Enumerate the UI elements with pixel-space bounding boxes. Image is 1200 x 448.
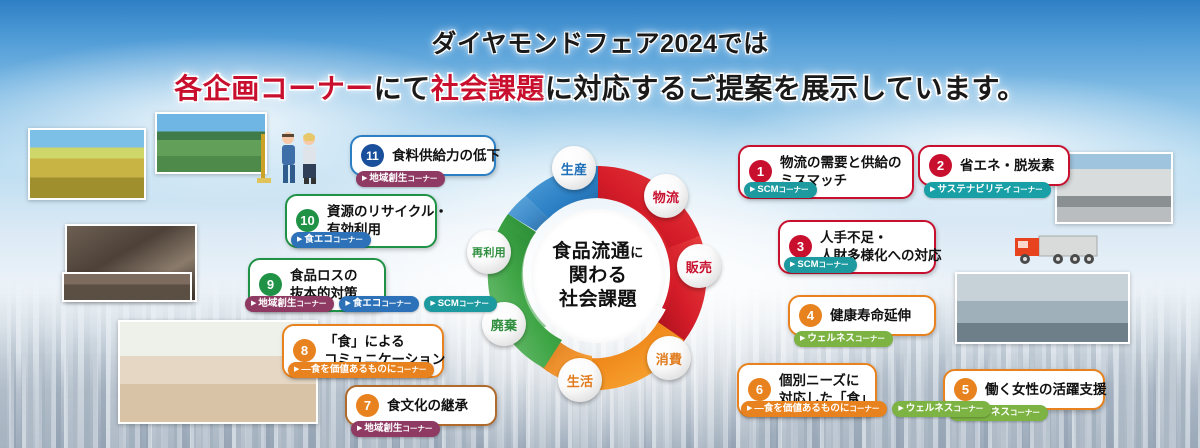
issue-tags-2: サステナビリティコーナー	[924, 182, 1051, 198]
tag-wellness-suffix: コーナー	[1010, 408, 1040, 417]
tag-regional-suffix: コーナー	[402, 424, 432, 433]
tag-sustainability[interactable]: サステナビリティコーナー	[924, 182, 1051, 198]
wheel-center-line-3: 社会課題	[559, 288, 637, 312]
headline-line-2: 各企画コーナーにて社会課題に対応するご提案を展示しています。	[0, 67, 1200, 107]
issue-number-4: 4	[799, 304, 822, 327]
tag-scm-suffix: コーナー	[779, 185, 809, 194]
tag-regional-label: 地域創生	[258, 298, 296, 309]
wheel-center-text-1: 食品流通	[552, 241, 630, 262]
issue-text-11: 食料供給力の低下	[392, 147, 500, 165]
tag-food-eco-suffix: コーナー	[381, 299, 411, 308]
headline-connector-1: にて	[374, 73, 431, 104]
issue-text-1-line-1: 物流の需要と供給の	[780, 154, 902, 172]
truck-illustration	[1013, 230, 1105, 268]
headline-emphasis-issues: 社会課題	[431, 73, 545, 104]
tag-regional-label: 地域創生	[364, 423, 402, 434]
tag-wellness-label: ウェルネス	[906, 403, 954, 414]
wheel-center-suffix: に	[630, 245, 644, 260]
tag-wellness-suffix: コーナー	[953, 404, 983, 413]
issue-card-7[interactable]: 7 食文化の継承	[345, 385, 497, 426]
issue-tags-1: SCMコーナー	[744, 182, 817, 198]
issue-number-7: 7	[356, 394, 379, 417]
issue-number-5: 5	[954, 378, 977, 401]
tag-sustainability-suffix: コーナー	[1013, 185, 1043, 194]
wheel-center-line-1: 食品流通に	[552, 240, 644, 264]
headline-line-1: ダイヤモンドフェア2024では	[0, 24, 1200, 60]
issue-card-11[interactable]: 11 食料供給力の低下	[350, 135, 496, 176]
wheel-center-line-2: 関わる	[569, 264, 628, 288]
tag-wellness[interactable]: ウェルネスコーナー	[892, 401, 991, 417]
wheel-center-label: 食品流通に 関わる 社会課題	[531, 209, 665, 343]
issue-card-2[interactable]: 2 省エネ・脱炭素	[918, 145, 1070, 186]
tag-food-eco-suffix: コーナー	[333, 235, 363, 244]
tag-food-eco-label: 食エコ	[304, 234, 333, 245]
tag-wellness-suffix: コーナー	[855, 334, 885, 343]
issue-text-10-line-1: 資源のリサイクル・	[327, 203, 448, 221]
issue-text-3-line-1: 人手不足・	[820, 229, 942, 247]
tag-food-value-suffix: コーナー	[849, 404, 879, 413]
tag-wellness-label: ウェルネス	[807, 333, 855, 344]
wheel-node-reuse[interactable]: 再利用	[467, 230, 511, 274]
issue-number-11: 11	[361, 144, 384, 167]
wheel-node-sales[interactable]: 販売	[677, 244, 721, 288]
tag-food-value[interactable]: ―食を価値あるものにコーナー	[741, 401, 887, 417]
wheel-node-production[interactable]: 生産	[552, 146, 596, 190]
tag-food-value[interactable]: ―食を価値あるものにコーナー	[288, 362, 434, 378]
headline-emphasis-corner: 各企画コーナー	[174, 73, 374, 104]
wheel-node-living[interactable]: 生活	[558, 358, 602, 402]
headline-tail: に対応するご提案を展示しています。	[545, 73, 1026, 104]
tag-scm-label: SCM	[797, 259, 818, 270]
tag-regional[interactable]: 地域創生コーナー	[245, 296, 334, 312]
tag-regional[interactable]: 地域創生コーナー	[351, 421, 440, 437]
wheel-node-consumption[interactable]: 消費	[647, 336, 691, 380]
truck-road-photo	[1055, 152, 1173, 224]
issue-number-9: 9	[259, 273, 282, 296]
tag-food-value-label: ―食を価値あるものに	[301, 364, 396, 375]
harvest-crowd-photo	[62, 272, 192, 302]
tag-scm[interactable]: SCMコーナー	[424, 296, 497, 312]
tag-regional-suffix: コーナー	[296, 299, 326, 308]
issue-text-6-line-1: 個別ニーズに	[779, 372, 874, 390]
tag-wellness[interactable]: ウェルネスコーナー	[794, 331, 893, 347]
issue-text-2: 省エネ・脱炭素	[960, 157, 1055, 175]
header: ダイヤモンドフェア2024では 各企画コーナーにて社会課題に対応するご提案を展示…	[0, 24, 1200, 107]
tag-scm[interactable]: SCMコーナー	[744, 182, 817, 198]
issue-text-9-line-1: 食品ロスの	[290, 267, 358, 285]
cattle-pasture-photo	[155, 112, 267, 174]
issue-card-4[interactable]: 4 健康寿命延伸	[788, 295, 936, 336]
issue-tags-8: ―食を価値あるものにコーナー	[288, 362, 434, 378]
issue-tags-10: 食エココーナー	[291, 232, 371, 248]
issue-tags-7: 地域創生コーナー	[351, 421, 440, 437]
tag-regional[interactable]: 地域創生コーナー	[356, 171, 445, 187]
tag-scm-label: SCM	[757, 184, 778, 195]
businesswomen-photo	[955, 272, 1130, 344]
issue-tags-9: 地域創生コーナー 食エココーナー SCMコーナー	[245, 296, 497, 312]
issue-number-6: 6	[748, 378, 771, 401]
issue-number-3: 3	[789, 235, 812, 258]
tag-sustainability-label: サステナビリティ	[937, 184, 1012, 195]
issue-number-2: 2	[929, 154, 952, 177]
issue-number-10: 10	[296, 209, 319, 232]
issue-number-8: 8	[293, 339, 316, 362]
issue-number-1: 1	[749, 160, 772, 183]
tag-regional-label: 地域創生	[369, 173, 407, 184]
infographic-stage: ダイヤモンドフェア2024では 各企画コーナーにて社会課題に対応するご提案を展示…	[0, 0, 1200, 448]
issue-tags-4: ウェルネスコーナー	[794, 331, 893, 347]
wheel-node-logistics[interactable]: 物流	[644, 174, 688, 218]
food-distribution-wheel: 食品流通に 関わる 社会課題 生産 物流 販売 消費 生活 廃棄 再利用	[472, 150, 724, 402]
tag-regional-suffix: コーナー	[407, 174, 437, 183]
issue-text-7: 食文化の継承	[387, 397, 468, 415]
issue-tags-3: SCMコーナー	[784, 257, 857, 273]
issue-text-5: 働く女性の活躍支援	[985, 381, 1107, 399]
tag-scm-label: SCM	[438, 298, 459, 309]
tag-food-eco[interactable]: 食エココーナー	[291, 232, 371, 248]
tag-food-value-suffix: コーナー	[396, 365, 426, 374]
tag-food-value-label: ―食を価値あるものに	[754, 403, 849, 414]
tag-scm-suffix: コーナー	[819, 260, 849, 269]
tag-food-eco-label: 食エコ	[353, 298, 382, 309]
tag-scm-suffix: コーナー	[459, 299, 489, 308]
issue-tags-6: ―食を価値あるものにコーナー ウェルネスコーナー	[741, 401, 991, 417]
issue-tags-11: 地域創生コーナー	[356, 171, 445, 187]
farmer-illustration	[255, 128, 325, 192]
tag-scm[interactable]: SCMコーナー	[784, 257, 857, 273]
rice-field-photo	[28, 128, 146, 200]
tag-food-eco[interactable]: 食エココーナー	[339, 296, 419, 312]
issue-text-8-line-1: 「食」による	[324, 333, 445, 351]
issue-text-4: 健康寿命延伸	[830, 307, 911, 325]
